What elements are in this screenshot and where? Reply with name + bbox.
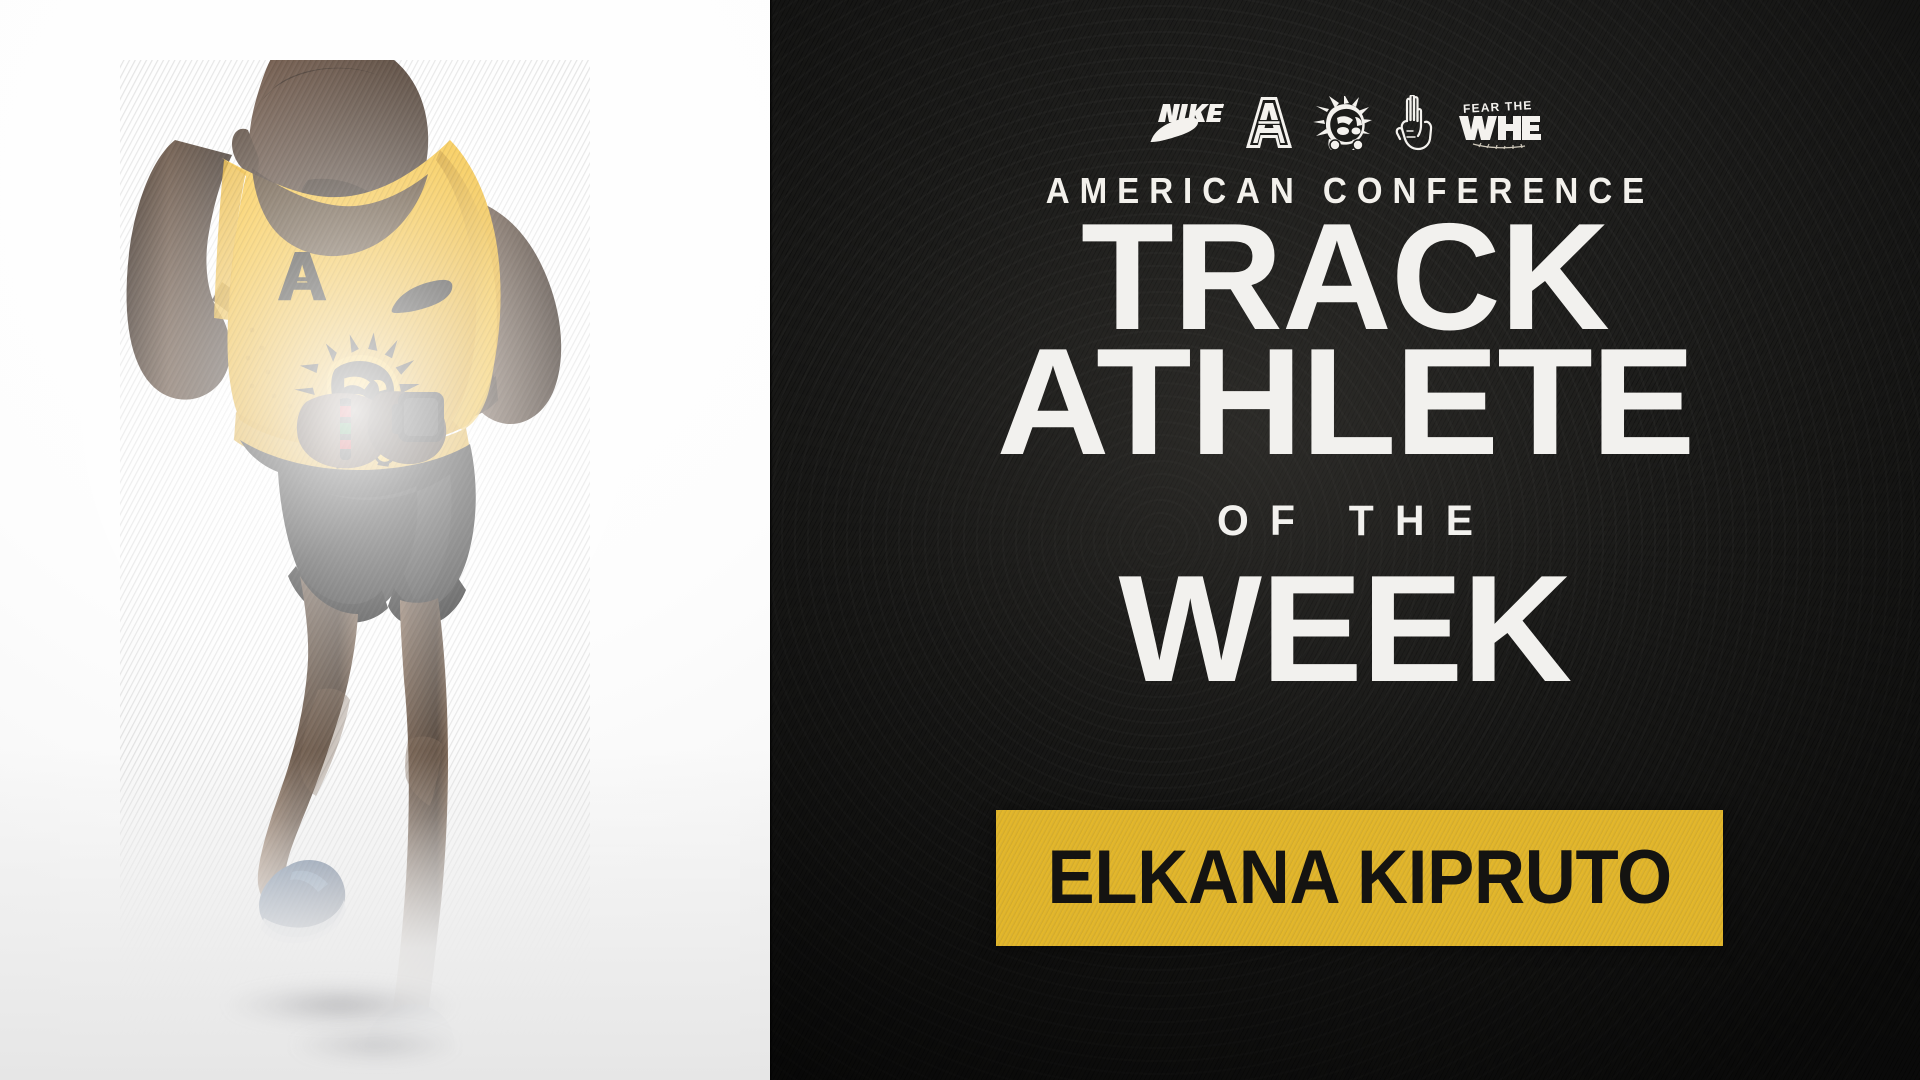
fear-the-wheat-logo: FEAR THE [1455, 96, 1541, 150]
headline-line-week: WEEK [770, 564, 1920, 695]
svg-text:FEAR THE: FEAR THE [1463, 98, 1533, 116]
title-content: FEAR THE [770, 0, 1920, 1080]
wushock-mascot-logo [1313, 96, 1373, 150]
shocker-hand-logo [1393, 95, 1435, 151]
headline-line-athlete: ATHLETE [770, 337, 1920, 468]
runner-illustration [0, 0, 770, 1080]
nike-swoosh-logo [1149, 102, 1225, 144]
title-panel: FEAR THE [770, 0, 1920, 1080]
logo-row: FEAR THE [1149, 95, 1541, 151]
floor-shadow-secondary [290, 1028, 460, 1062]
floor-shadow [225, 982, 455, 1028]
headline-line-of-the: OF THE [799, 503, 1892, 540]
athlete-photo-panel [0, 0, 770, 1080]
american-athletic-conference-logo [1245, 96, 1293, 150]
athlete-name: ELKANA KIPRUTO [1047, 840, 1671, 916]
athlete-nameplate: ELKANA KIPRUTO [996, 810, 1723, 946]
headline-block: TRACK ATHLETE OF THE WEEK [770, 212, 1920, 695]
athlete-of-the-week-graphic: FEAR THE [0, 0, 1920, 1080]
